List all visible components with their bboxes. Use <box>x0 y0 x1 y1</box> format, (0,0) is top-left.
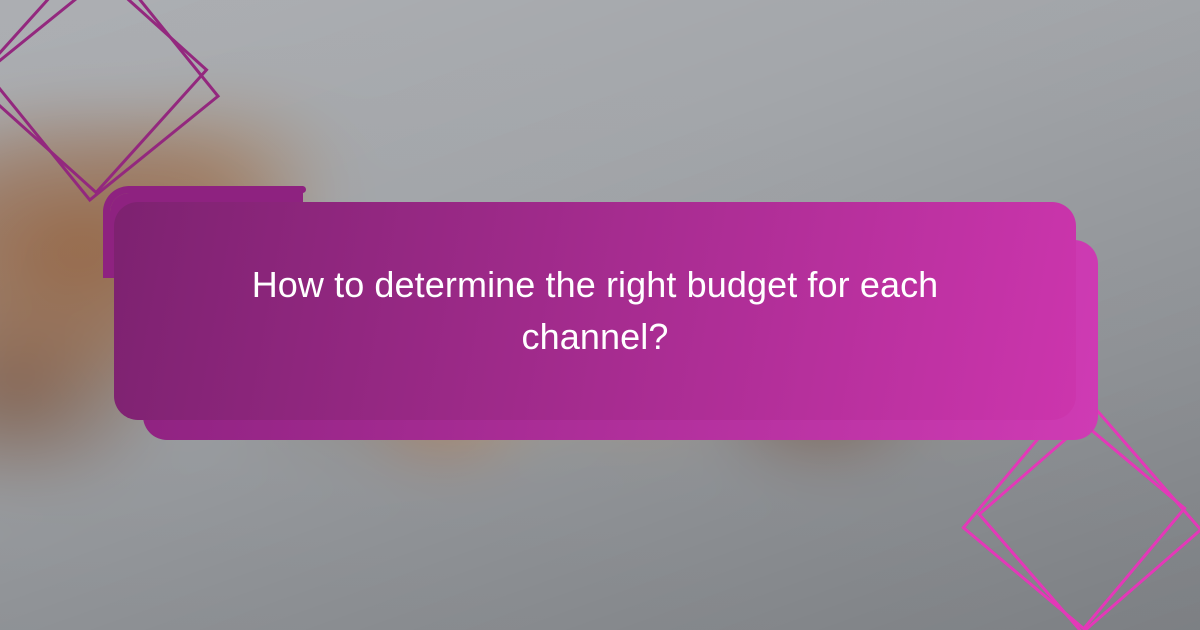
quote-text: How to determine the right budget for ea… <box>215 259 975 363</box>
rotated-square-icon <box>977 409 1200 630</box>
quote-card-front-layer: How to determine the right budget for ea… <box>114 202 1076 420</box>
decorative-squares-top-left <box>0 0 222 216</box>
rotated-square-icon <box>0 0 220 202</box>
quote-card-canvas: How to determine the right budget for ea… <box>0 0 1200 630</box>
decorative-squares-bottom-right <box>976 416 1200 630</box>
